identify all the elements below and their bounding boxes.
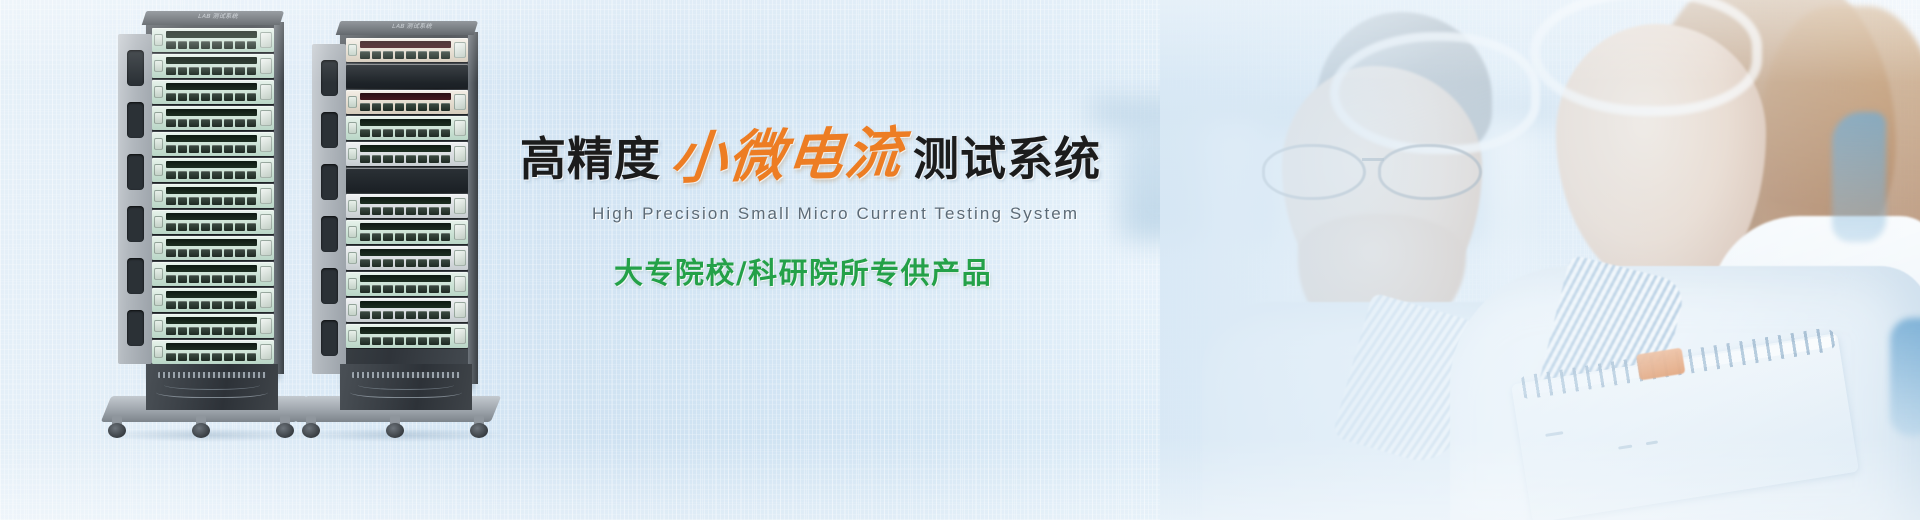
banner-vignette: [0, 0, 1920, 520]
promo-banner: LAB 测试系统: [0, 0, 1920, 520]
